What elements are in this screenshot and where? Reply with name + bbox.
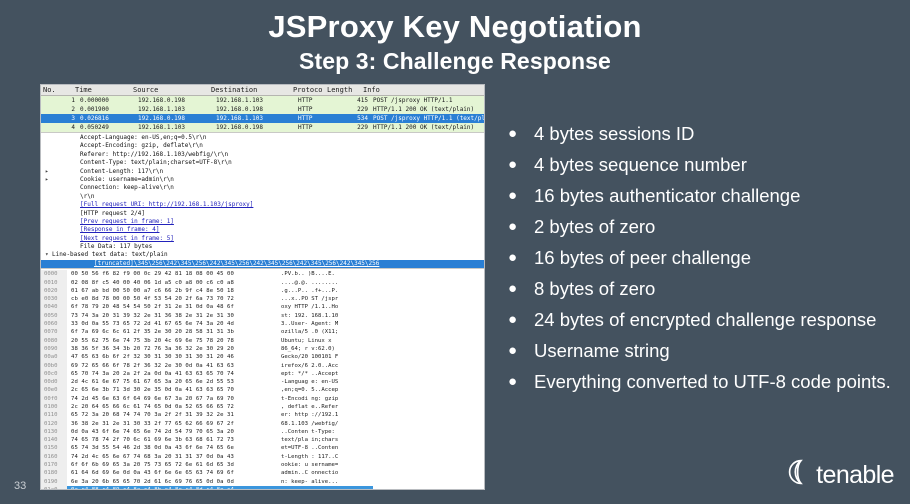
hex-ascii: -Languag e: en-US <box>271 378 373 386</box>
hex-ascii: ........ ........ <box>271 486 373 489</box>
packet-protocol: HTTP <box>298 105 332 114</box>
bullet-item: ●4 bytes sessions ID <box>508 118 898 149</box>
hex-dump-row[interactable]: 012036 38 2e 31 2e 31 30 33 2f 77 65 62 … <box>41 420 484 428</box>
hex-offset: 0120 <box>41 420 67 428</box>
bullet-dot-icon: ● <box>508 304 534 335</box>
hex-ascii: n: keep- alive... <box>271 478 373 486</box>
packet-detail-label: [Response in frame: 4] <box>80 226 159 233</box>
indent-spacer <box>66 134 80 142</box>
hex-dump-row[interactable]: 009038 36 5f 36 34 3b 20 72 76 3a 36 32 … <box>41 345 484 353</box>
hex-bytes: 6e 3a 20 6b 65 65 70 2d 61 6c 69 76 65 0… <box>67 478 271 486</box>
packet-detail-label: Line-based text data: text/plain <box>52 251 168 258</box>
page-subtitle: Step 3: Challenge Response <box>0 46 910 76</box>
hex-dump-row[interactable]: 01a00a c4 88 c4 89 c4 8a c4 8b c4 8c c4 … <box>41 486 484 489</box>
hex-dump-row[interactable]: 006033 0d 0a 55 73 65 72 2d 41 67 65 6e … <box>41 320 484 328</box>
column-header-destination[interactable]: Destination <box>211 85 293 95</box>
bullet-label: Everything converted to UTF-8 code point… <box>534 366 898 397</box>
column-header-time[interactable]: Time <box>75 85 133 95</box>
packet-detail-label: [HTTP request 2/4] <box>80 210 145 217</box>
hex-offset: 0110 <box>41 411 67 419</box>
hex-bytes: 38 36 5f 36 34 3b 20 72 76 3a 36 32 2e 3… <box>67 345 271 353</box>
bullet-dot-icon: ● <box>508 335 534 366</box>
hex-offset: 00c0 <box>41 370 67 378</box>
hex-ascii: ookie: u sername= <box>271 461 373 469</box>
indent-spacer <box>66 235 80 243</box>
hex-bytes: 47 65 63 6b 6f 2f 32 30 31 30 30 31 30 3… <box>67 353 271 361</box>
packet-protocol: HTTP <box>298 96 332 105</box>
hex-dump-row[interactable]: 014074 65 78 74 2f 70 6c 61 69 6e 3b 63 … <box>41 436 484 444</box>
indent-spacer <box>52 184 66 192</box>
hex-dump-row[interactable]: 00706f 7a 69 6c 6c 61 2f 35 2e 30 20 28 … <box>41 328 484 336</box>
bullet-label: 4 bytes sessions ID <box>534 118 898 149</box>
indent-spacer <box>52 218 66 226</box>
hex-ascii: ...x..PO ST /jspr <box>271 295 373 303</box>
indent-spacer <box>66 226 80 234</box>
hex-bytes: cb e0 8d 78 00 00 50 4f 53 54 20 2f 6a 7… <box>67 295 271 303</box>
packet-list-body: 10.000000192.168.0.198192.168.1.103HTTP4… <box>41 96 484 132</box>
packet-no: 1 <box>43 96 80 105</box>
hex-ascii: ....@.@. ........ <box>271 279 373 287</box>
indent-spacer <box>66 184 80 192</box>
hex-dump-row[interactable]: 005073 74 3a 20 31 39 32 2e 31 36 38 2e … <box>41 312 484 320</box>
packet-source: 192.168.0.198 <box>138 96 216 105</box>
packet-bytes-pane: 000000 50 56 f6 82 f9 00 0c 29 42 81 18 … <box>41 268 484 489</box>
hex-dump-row[interactable]: 002001 67 ab bd 00 50 00 a7 c6 66 2b 9f … <box>41 287 484 295</box>
hex-dump-row[interactable]: 00b069 72 65 66 6f 78 2f 36 32 2e 30 0d … <box>41 362 484 370</box>
indent-spacer <box>52 260 66 268</box>
bullet-dot-icon: ● <box>508 273 534 304</box>
hex-ascii: , deflat e..Refer <box>271 403 373 411</box>
hex-dump-row[interactable]: 016074 2d 4c 65 6e 67 74 68 3a 20 31 31 … <box>41 453 484 461</box>
hex-dump-row[interactable]: 015065 74 3d 55 54 46 2d 38 0d 0a 43 6f … <box>41 444 484 452</box>
packet-detail-row[interactable]: [HTTP request 2/4] <box>41 210 484 218</box>
packet-detail-label: Referer: http://192.168.1.103/webfig/\r\… <box>80 151 228 158</box>
hex-bytes: 2d 4c 61 6e 67 75 61 67 65 3a 20 65 6e 2… <box>67 378 271 386</box>
hex-bytes: 74 2d 45 6e 63 6f 64 69 6e 67 3a 20 67 7… <box>67 395 271 403</box>
packet-detail-row[interactable]: Content-Type: text/plain;charset=UTF-8\r… <box>41 159 484 167</box>
packet-protocol: HTTP <box>298 123 332 132</box>
hex-dump-row[interactable]: 01300d 0a 43 6f 6e 74 65 6e 74 2d 54 79 … <box>41 428 484 436</box>
indent-spacer <box>52 210 66 218</box>
hex-offset: 0140 <box>41 436 67 444</box>
indent-spacer <box>52 134 66 142</box>
hex-offset: 0090 <box>41 345 67 353</box>
hex-offset: 0030 <box>41 295 67 303</box>
indent-spacer <box>66 201 80 209</box>
packet-detail-row[interactable]: File Data: 117 bytes <box>41 243 484 251</box>
hex-ascii: st: 192. 168.1.10 <box>271 312 373 320</box>
packet-detail-label: Accept-Encoding: gzip, deflate\r\n <box>80 142 203 149</box>
tenable-o-icon <box>788 459 814 490</box>
packet-length: 229 <box>332 105 373 114</box>
hex-bytes: 74 65 78 74 2f 70 6c 61 69 6e 3b 63 68 6… <box>67 436 271 444</box>
hex-dump-row[interactable]: 00c065 70 74 3a 20 2a 2f 2a 0d 0a 41 63 … <box>41 370 484 378</box>
hex-offset: 0180 <box>41 469 67 477</box>
packet-detail-label: [Prev request in frame: 1] <box>80 218 174 225</box>
packet-destination: 192.168.0.198 <box>216 123 298 132</box>
packet-detail-pane: Accept-Language: en-US,en;q=0.5\r\n Acce… <box>41 132 484 268</box>
bullet-dot-icon: ● <box>508 180 534 211</box>
packet-list-header: No. Time Source Destination Protoco Leng… <box>41 85 484 96</box>
column-header-source[interactable]: Source <box>133 85 211 95</box>
hex-ascii: text/pla in;chars <box>271 436 373 444</box>
packet-detail-label: Connection: keep-alive\r\n <box>80 184 174 191</box>
hex-bytes: 61 64 6d 69 6e 0d 0a 43 6f 6e 6e 65 63 7… <box>67 469 271 477</box>
hex-offset: 0070 <box>41 328 67 336</box>
hex-dump-row[interactable]: 001002 08 8f c5 40 00 40 06 1d a5 c0 a8 … <box>41 279 484 287</box>
hex-offset: 0050 <box>41 312 67 320</box>
indent-spacer <box>66 142 80 150</box>
hex-ascii: 3..User- Agent: M <box>271 320 373 328</box>
column-header-protocol[interactable]: Protoco <box>293 85 327 95</box>
hex-ascii: irefox/6 2.0..Acc <box>271 362 373 370</box>
hex-bytes: 65 74 3d 55 54 46 2d 38 0d 0a 43 6f 6e 7… <box>67 444 271 452</box>
hex-ascii: Ubuntu; Linux x <box>271 337 373 345</box>
hex-dump-row[interactable]: 018061 64 6d 69 6e 0d 0a 43 6f 6e 6e 65 … <box>41 469 484 477</box>
hex-ascii: t-Length : 117..C <box>271 453 373 461</box>
hex-offset: 0060 <box>41 320 67 328</box>
packet-info: HTTP/1.1 200 OK (text/plain) <box>373 105 484 114</box>
packet-length: 229 <box>332 123 373 132</box>
bullet-label: 2 bytes of zero <box>534 211 898 242</box>
hex-ascii: et=UTF-8 ..Conten <box>271 444 373 452</box>
hex-ascii: admin..C onnectio <box>271 469 373 477</box>
indent-spacer <box>52 151 66 159</box>
chevron-down-icon[interactable]: ▾ <box>45 251 52 259</box>
hex-dump-row[interactable]: 00f074 2d 45 6e 63 6f 64 69 6e 67 3a 20 … <box>41 395 484 403</box>
indent-spacer <box>52 159 66 167</box>
hex-dump-row[interactable]: 00d02d 4c 61 6e 67 75 61 67 65 3a 20 65 … <box>41 378 484 386</box>
packet-length: 415 <box>332 96 373 105</box>
hex-bytes: 00 50 56 f6 82 f9 00 0c 29 42 81 18 08 0… <box>67 270 271 278</box>
tenable-wordmark: tenable <box>816 462 894 488</box>
hex-ascii: Gecko/20 100101 F <box>271 353 373 361</box>
hex-offset: 0100 <box>41 403 67 411</box>
indent-spacer <box>52 142 66 150</box>
hex-offset: 0170 <box>41 461 67 469</box>
packet-list-row[interactable]: 30.026816192.168.0.198192.168.1.103HTTP5… <box>41 114 484 123</box>
packet-detail-row[interactable]: Accept-Encoding: gzip, deflate\r\n <box>41 142 484 150</box>
column-header-info[interactable]: Info <box>363 85 484 95</box>
indent-spacer <box>66 260 80 268</box>
packet-detail-label: \r\n <box>80 193 94 200</box>
packet-detail-row[interactable]: Connection: keep-alive\r\n <box>41 184 484 192</box>
bullet-dot-icon: ● <box>508 242 534 273</box>
indent-spacer <box>66 210 80 218</box>
bullet-dot-icon: ● <box>508 118 534 149</box>
packet-protocol: HTTP <box>298 114 332 123</box>
bullet-item: ●24 bytes of encrypted challenge respons… <box>508 304 898 335</box>
indent-spacer <box>66 243 80 251</box>
hex-offset: 0160 <box>41 453 67 461</box>
hex-bytes: 65 72 3a 20 68 74 74 70 3a 2f 2f 31 39 3… <box>67 411 271 419</box>
bullet-label: 16 bytes of peer challenge <box>534 242 898 273</box>
hex-bytes: 36 38 2e 31 2e 31 30 33 2f 77 65 62 66 6… <box>67 420 271 428</box>
hex-ascii: ..Conten t-Type: <box>271 428 373 436</box>
hex-dump-row[interactable]: 0030cb e0 8d 78 00 00 50 4f 53 54 20 2f … <box>41 295 484 303</box>
page-number: 33 <box>14 480 26 492</box>
packet-length: 534 <box>332 114 373 123</box>
indent-spacer <box>66 159 80 167</box>
packet-detail-label: [Full request URI: http://192.168.1.103/… <box>80 201 253 208</box>
bullet-item: ●Username string <box>508 335 898 366</box>
hex-ascii: ,en;q=0. 5..Accep <box>271 386 373 394</box>
packet-time: 0.000000 <box>80 96 138 105</box>
hex-offset: 01a0 <box>41 486 67 489</box>
packet-detail-label: File Data: 117 bytes <box>80 243 152 250</box>
hex-dump-row[interactable]: 00a047 65 63 6b 6f 2f 32 30 31 30 30 31 … <box>41 353 484 361</box>
packet-no: 4 <box>43 123 80 132</box>
hex-offset: 00d0 <box>41 378 67 386</box>
bullet-dot-icon: ● <box>508 366 534 397</box>
packet-detail-label: Cookie: username=admin\r\n <box>80 176 174 183</box>
indent-spacer <box>66 176 80 184</box>
indent-spacer <box>66 168 80 176</box>
packet-detail-label: [Next request in frame: 5] <box>80 235 174 242</box>
indent-spacer <box>52 201 66 209</box>
bullet-item: ●8 bytes of zero <box>508 273 898 304</box>
hex-offset: 00e0 <box>41 386 67 394</box>
packet-detail-row[interactable]: [Next request in frame: 5] <box>41 235 484 243</box>
bullet-dot-icon: ● <box>508 211 534 242</box>
bullet-item: ●4 bytes sequence number <box>508 149 898 180</box>
indent-spacer <box>52 235 66 243</box>
chevron-right-icon[interactable]: ▸ <box>45 168 52 176</box>
hex-dump-row[interactable]: 00406f 78 79 20 48 54 54 50 2f 31 2e 31 … <box>41 303 484 311</box>
packet-detail-row[interactable]: [Response in frame: 4] <box>41 226 484 234</box>
packet-destination: 192.168.0.198 <box>216 105 298 114</box>
bullet-list: ●4 bytes sessions ID●4 bytes sequence nu… <box>508 118 898 397</box>
bullet-item: ●2 bytes of zero <box>508 211 898 242</box>
title-block: JSProxy Key Negotiation Step 3: Challeng… <box>0 8 910 76</box>
hex-offset: 00f0 <box>41 395 67 403</box>
indent-spacer <box>66 193 80 201</box>
packet-info: POST /jsproxy HTTP/1.1 <box>373 96 484 105</box>
packet-detail-label: [truncated]\345\256\242\345\256\242\345\… <box>94 260 379 267</box>
hex-bytes: 74 2d 4c 65 6e 67 74 68 3a 20 31 31 37 0… <box>67 453 271 461</box>
packet-detail-row[interactable]: \r\n <box>41 193 484 201</box>
bullet-item: ●16 bytes of peer challenge <box>508 242 898 273</box>
bullet-label: 8 bytes of zero <box>534 273 898 304</box>
packet-detail-label: Accept-Language: en-US,en;q=0.5\r\n <box>80 134 206 141</box>
hex-ascii: t-Encodi ng: gzip <box>271 395 373 403</box>
hex-dump-row[interactable]: 01906e 3a 20 6b 65 65 70 2d 61 6c 69 76 … <box>41 478 484 486</box>
hex-ascii: 68.1.103 /webfig/ <box>271 420 373 428</box>
indent-spacer <box>52 193 66 201</box>
hex-offset: 0080 <box>41 337 67 345</box>
packet-no: 2 <box>43 105 80 114</box>
packet-time: 0.050249 <box>80 123 138 132</box>
bullet-dot-icon: ● <box>508 149 534 180</box>
bullet-label: 4 bytes sequence number <box>534 149 898 180</box>
packet-list-row[interactable]: 10.000000192.168.0.198192.168.1.103HTTP4… <box>41 96 484 105</box>
hex-ascii: ozilla/5 .0 (X11; <box>271 328 373 336</box>
hex-bytes: 0d 0a 43 6f 6e 74 65 6e 74 2d 54 79 70 6… <box>67 428 271 436</box>
hex-bytes: 73 74 3a 20 31 39 32 2e 31 36 38 2e 31 2… <box>67 312 271 320</box>
packet-source: 192.168.1.103 <box>138 105 216 114</box>
packet-detail-label: Content-Type: text/plain;charset=UTF-8\r… <box>80 159 232 166</box>
hex-bytes: 0a c4 88 c4 89 c4 8a c4 8b c4 8c c4 8d c… <box>67 486 271 489</box>
indent-spacer <box>80 260 94 268</box>
hex-offset: 0040 <box>41 303 67 311</box>
bullet-item: ●Everything converted to UTF-8 code poin… <box>508 366 898 397</box>
packet-detail-row[interactable]: ▸ Content-Length: 117\r\n <box>41 168 484 176</box>
page-title: JSProxy Key Negotiation <box>0 8 910 46</box>
column-header-no[interactable]: No. <box>43 85 75 95</box>
wireshark-screenshot: No. Time Source Destination Protoco Leng… <box>41 85 484 489</box>
hex-offset: 0020 <box>41 287 67 295</box>
hex-bytes: 65 70 74 3a 20 2a 2f 2a 0d 0a 41 63 63 6… <box>67 370 271 378</box>
slide-root: JSProxy Key Negotiation Step 3: Challeng… <box>0 0 910 504</box>
hex-bytes: 02 08 8f c5 40 00 40 06 1d a5 c0 a8 00 c… <box>67 279 271 287</box>
hex-bytes: 2c 65 6e 3b 71 3d 30 2e 35 0d 0a 41 63 6… <box>67 386 271 394</box>
packet-detail-row[interactable]: [Full request URI: http://192.168.1.103/… <box>41 201 484 209</box>
hex-dump-row[interactable]: 000000 50 56 f6 82 f9 00 0c 29 42 81 18 … <box>41 270 484 278</box>
hex-ascii: oxy HTTP /1.1..Ho <box>271 303 373 311</box>
hex-offset: 00b0 <box>41 362 67 370</box>
indent-spacer <box>52 243 66 251</box>
packet-destination: 192.168.1.103 <box>216 96 298 105</box>
packet-time: 0.026816 <box>80 114 138 123</box>
tenable-logo: tenable <box>788 459 894 490</box>
packet-detail-row[interactable]: ▸ Cookie: username=admin\r\n <box>41 176 484 184</box>
hex-ascii: er: http ://192.1 <box>271 411 373 419</box>
bullet-label: Username string <box>534 335 898 366</box>
hex-offset: 0000 <box>41 270 67 278</box>
hex-ascii: ept: */* ..Accept <box>271 370 373 378</box>
packet-detail-row[interactable]: ▾Line-based text data: text/plain <box>41 251 484 259</box>
bullet-item: ●16 bytes authenticator challenge <box>508 180 898 211</box>
hex-offset: 0130 <box>41 428 67 436</box>
indent-spacer <box>52 226 66 234</box>
hex-bytes: 2c 20 64 65 66 6c 61 74 65 0d 0a 52 65 6… <box>67 403 271 411</box>
packet-detail-row[interactable]: Accept-Language: en-US,en;q=0.5\r\n <box>41 134 484 142</box>
hex-dump-row[interactable]: 008020 55 62 75 6e 74 75 3b 20 4c 69 6e … <box>41 337 484 345</box>
hex-ascii: .PV.b.. )B....E. <box>271 270 373 278</box>
hex-offset: 0010 <box>41 279 67 287</box>
hex-offset: 0190 <box>41 478 67 486</box>
hex-ascii: .g...P.. .f+...P. <box>271 287 373 295</box>
hex-bytes: 33 0d 0a 55 73 65 72 2d 41 67 65 6e 74 3… <box>67 320 271 328</box>
hex-bytes: 6f 7a 69 6c 6c 61 2f 35 2e 30 20 28 58 3… <box>67 328 271 336</box>
packet-no: 3 <box>43 114 80 123</box>
hex-bytes: 6f 78 79 20 48 54 54 50 2f 31 2e 31 0d 0… <box>67 303 271 311</box>
packet-source: 192.168.1.103 <box>138 123 216 132</box>
hex-bytes: 20 55 62 75 6e 74 75 3b 20 4c 69 6e 75 7… <box>67 337 271 345</box>
packet-list-row[interactable]: 40.050249192.168.1.103192.168.0.198HTTP2… <box>41 123 484 132</box>
packet-detail-row[interactable]: [truncated]\345\256\242\345\256\242\345\… <box>41 260 484 268</box>
hex-offset: 0150 <box>41 444 67 452</box>
packet-time: 0.001900 <box>80 105 138 114</box>
hex-bytes: 01 67 ab bd 00 50 00 a7 c6 66 2b 9f c4 8… <box>67 287 271 295</box>
hex-bytes: 69 72 65 66 6f 78 2f 36 32 2e 30 0d 0a 4… <box>67 362 271 370</box>
hex-ascii: 86_64; r v:62.0) <box>271 345 373 353</box>
hex-offset: 00a0 <box>41 353 67 361</box>
packet-info: HTTP/1.1 200 OK (text/plain) <box>373 123 484 132</box>
indent-spacer <box>66 218 80 226</box>
hex-dump-row[interactable]: 01706f 6f 6b 69 65 3a 20 75 73 65 72 6e … <box>41 461 484 469</box>
packet-detail-row[interactable]: [Prev request in frame: 1] <box>41 218 484 226</box>
column-header-length[interactable]: Length <box>327 85 363 95</box>
hex-dump-row[interactable]: 011065 72 3a 20 68 74 74 70 3a 2f 2f 31 … <box>41 411 484 419</box>
bullet-label: 24 bytes of encrypted challenge response <box>534 304 898 335</box>
packet-info: POST /jsproxy HTTP/1.1 (text/plain) <box>373 114 484 123</box>
indent-spacer <box>52 168 66 176</box>
chevron-right-icon[interactable]: ▸ <box>45 176 52 184</box>
packet-detail-row[interactable]: Referer: http://192.168.1.103/webfig/\r\… <box>41 151 484 159</box>
indent-spacer <box>52 176 66 184</box>
bullet-label: 16 bytes authenticator challenge <box>534 180 898 211</box>
indent-spacer <box>66 151 80 159</box>
packet-list-row[interactable]: 20.001900192.168.1.103192.168.0.198HTTP2… <box>41 105 484 114</box>
packet-destination: 192.168.1.103 <box>216 114 298 123</box>
hex-dump-row[interactable]: 00e02c 65 6e 3b 71 3d 30 2e 35 0d 0a 41 … <box>41 386 484 394</box>
hex-bytes: 6f 6f 6b 69 65 3a 20 75 73 65 72 6e 61 6… <box>67 461 271 469</box>
packet-detail-label: Content-Length: 117\r\n <box>80 168 163 175</box>
packet-source: 192.168.0.198 <box>138 114 216 123</box>
hex-dump-row[interactable]: 01002c 20 64 65 66 6c 61 74 65 0d 0a 52 … <box>41 403 484 411</box>
